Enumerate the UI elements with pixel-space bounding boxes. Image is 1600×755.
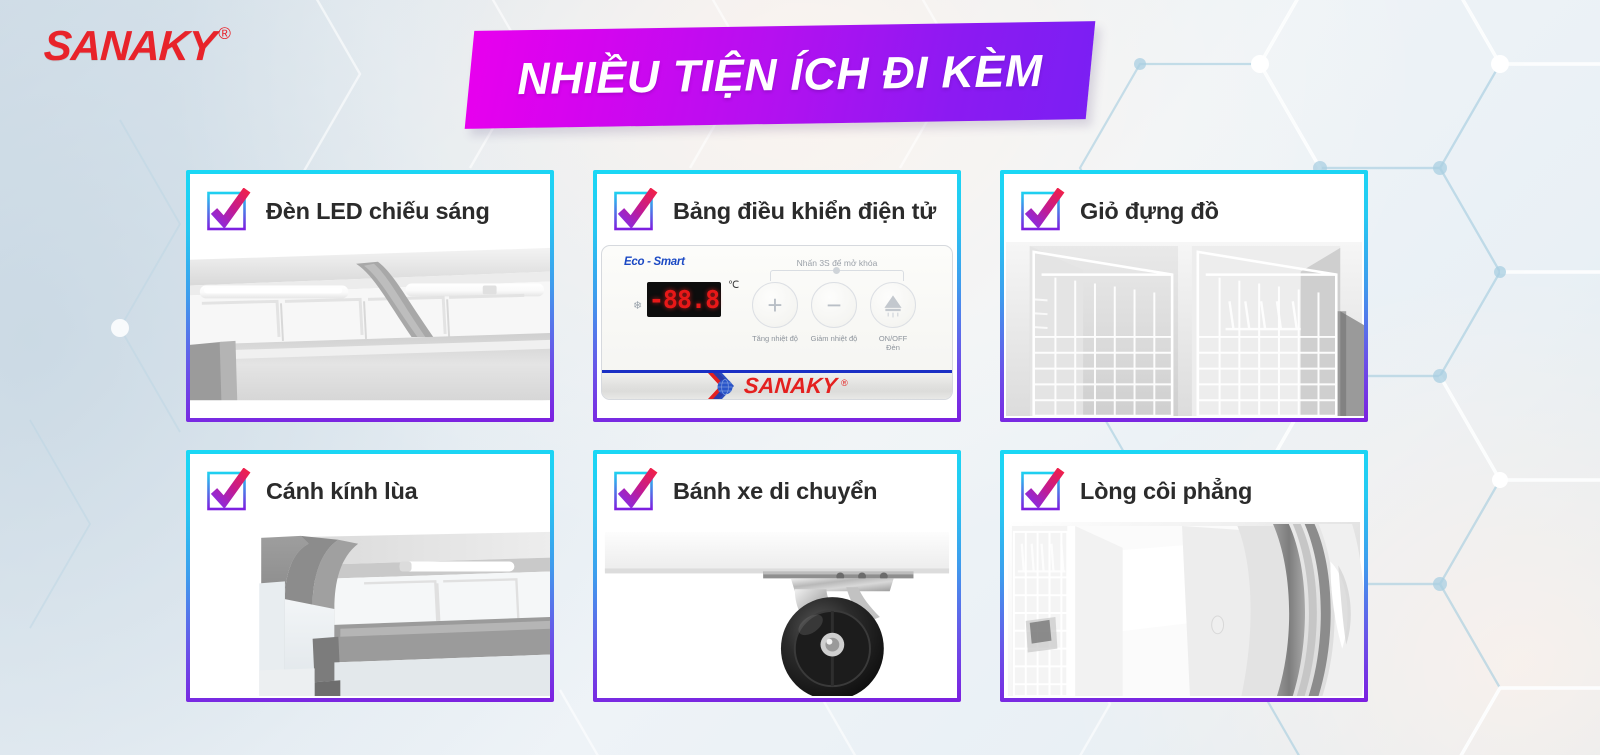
caster-wheel-photo — [597, 522, 957, 696]
panel-brand-text: SANAKY — [743, 373, 838, 399]
card-title: Bảng điều khiển điện tử — [673, 198, 936, 225]
brand-trademark-symbol: ® — [218, 24, 231, 44]
feature-card-long-coi-phang[interactable]: Lòng côi phẳng — [1000, 450, 1368, 702]
flat-interior-photo — [1004, 522, 1364, 696]
lamp-icon — [871, 283, 915, 327]
check-icon — [1020, 468, 1066, 514]
title-banner-text: NHIỀU TIỆN ÍCH ĐI KÈM — [469, 21, 1090, 129]
feature-card-bang-dieu-khien-dien-tu[interactable]: Bảng điều khiển điện tử Eco - Smart ❄ -8… — [593, 170, 961, 422]
card-title: Giỏ đựng đồ — [1080, 198, 1219, 225]
feature-card-gio-dung-do[interactable]: Giỏ đựng đồ — [1000, 170, 1368, 422]
storage-baskets-photo — [1004, 242, 1364, 416]
light-power-button[interactable] — [870, 282, 916, 328]
brand-logo: SANAKY ® — [44, 22, 231, 70]
card-photo-led-light — [190, 242, 550, 418]
panel-brand-trademark: ® — [841, 378, 848, 388]
card-photo-sliding-glass-door — [190, 522, 550, 698]
feature-card-canh-kinh-lua[interactable]: Cánh kính lùa — [186, 450, 554, 702]
feature-card-banh-xe-di-chuyen[interactable]: Bánh xe di chuyển — [593, 450, 961, 702]
temp-up-button[interactable]: + — [752, 282, 798, 328]
sanaky-emblem-icon — [706, 371, 740, 400]
card-header: Đèn LED chiếu sáng — [190, 174, 550, 242]
minus-icon: − — [812, 283, 856, 327]
card-photo-storage-baskets — [1004, 242, 1364, 418]
card-photo-control-panel: Eco - Smart ❄ -88.8 ℃ Nhấn 3S để mở khóa… — [597, 242, 957, 418]
card-title: Đèn LED chiếu sáng — [266, 198, 490, 225]
card-title: Bánh xe di chuyển — [673, 478, 877, 505]
check-icon — [613, 188, 659, 234]
check-icon — [613, 468, 659, 514]
plus-icon: + — [753, 283, 797, 327]
temperature-value: -88.8 — [649, 287, 719, 312]
card-photo-caster-wheel — [597, 522, 957, 698]
title-banner: NHIỀU TIỆN ÍCH ĐI KÈM — [470, 26, 1090, 124]
feature-card-grid: Đèn LED chiếu sáng — [186, 170, 1368, 702]
check-icon — [1020, 188, 1066, 234]
check-icon — [206, 468, 252, 514]
temp-down-button[interactable]: − — [811, 282, 857, 328]
unlock-dot-icon — [833, 267, 840, 274]
led-light-photo — [190, 242, 550, 416]
check-icon — [206, 188, 252, 234]
card-header: Bảng điều khiển điện tử — [597, 174, 957, 242]
eco-smart-label: Eco - Smart — [624, 256, 685, 268]
card-header: Bánh xe di chuyển — [597, 454, 957, 522]
snowflake-icon: ❄ — [633, 299, 642, 312]
light-power-label: ON/OFF Đèn — [845, 334, 941, 353]
card-title: Cánh kính lùa — [266, 478, 417, 505]
control-panel[interactable]: Eco - Smart ❄ -88.8 ℃ Nhấn 3S để mở khóa… — [601, 245, 953, 400]
card-photo-flat-interior — [1004, 522, 1364, 698]
sliding-glass-door-photo — [190, 522, 550, 696]
panel-footer: SANAKY ® — [602, 373, 952, 399]
brand-logo-text: SANAKY — [43, 22, 217, 70]
card-header: Lòng côi phẳng — [1004, 454, 1364, 522]
card-header: Giỏ đựng đồ — [1004, 174, 1364, 242]
card-title: Lòng côi phẳng — [1080, 478, 1252, 505]
card-header: Cánh kính lùa — [190, 454, 550, 522]
temperature-display: -88.8 — [647, 282, 721, 317]
temperature-unit: ℃ — [728, 280, 739, 291]
feature-card-den-led-chieu-sang[interactable]: Đèn LED chiếu sáng — [186, 170, 554, 422]
